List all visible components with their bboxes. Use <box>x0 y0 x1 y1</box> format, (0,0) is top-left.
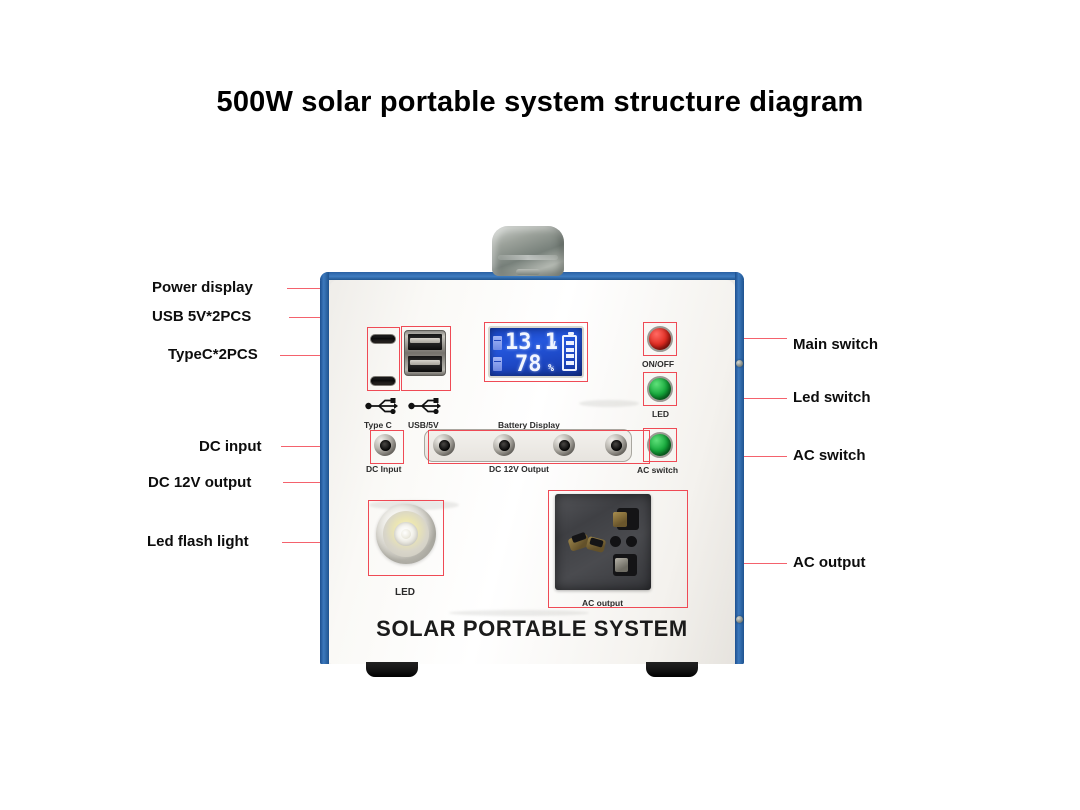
highlight-main-switch <box>643 322 677 356</box>
label-usb-5v: USB 5V*2PCS <box>152 308 251 325</box>
caption-on-off: ON/OFF <box>642 359 674 369</box>
label-led-switch: Led switch <box>793 389 871 406</box>
usb-trident-icon <box>408 398 442 414</box>
caption-dc-input: DC Input <box>366 464 401 474</box>
caption-ac-switch: AC switch <box>637 465 678 475</box>
label-ac-output: AC output <box>793 554 865 571</box>
label-dc-input: DC input <box>199 438 261 455</box>
highlight-battery-display <box>484 322 588 382</box>
label-main-switch: Main switch <box>793 336 878 353</box>
caption-led-switch: LED <box>652 409 669 419</box>
highlight-led-switch <box>643 372 677 406</box>
highlight-type-c <box>367 327 400 391</box>
usb-trident-icon <box>365 398 399 414</box>
highlight-ac-output <box>548 490 688 608</box>
device-frame-left <box>320 272 329 664</box>
rubber-foot <box>646 662 698 677</box>
caption-type-c: Type C <box>364 420 392 430</box>
caption-led: LED <box>395 587 415 598</box>
label-led-flash-light: Led flash light <box>147 533 249 550</box>
device-frame-right <box>735 272 744 664</box>
handle-bolt <box>516 269 540 275</box>
highlight-led-flash-light <box>368 500 444 576</box>
label-dc-12v-output: DC 12V output <box>148 474 251 491</box>
rubber-foot <box>366 662 418 677</box>
page-title: 500W solar portable system structure dia… <box>0 86 1080 119</box>
label-power-display: Power display <box>152 279 253 296</box>
screw-icon <box>736 360 743 367</box>
highlight-dc-input <box>370 430 404 464</box>
highlight-dc-12v-output <box>428 430 650 464</box>
label-typec: TypeC*2PCS <box>168 346 258 363</box>
device-brand-text: SOLAR PORTABLE SYSTEM <box>320 616 744 642</box>
diagram-canvas: 500W solar portable system structure dia… <box>0 0 1080 810</box>
caption-dc-12v-output: DC 12V Output <box>489 464 549 474</box>
label-ac-switch: AC switch <box>793 447 866 464</box>
highlight-usb <box>401 326 451 391</box>
